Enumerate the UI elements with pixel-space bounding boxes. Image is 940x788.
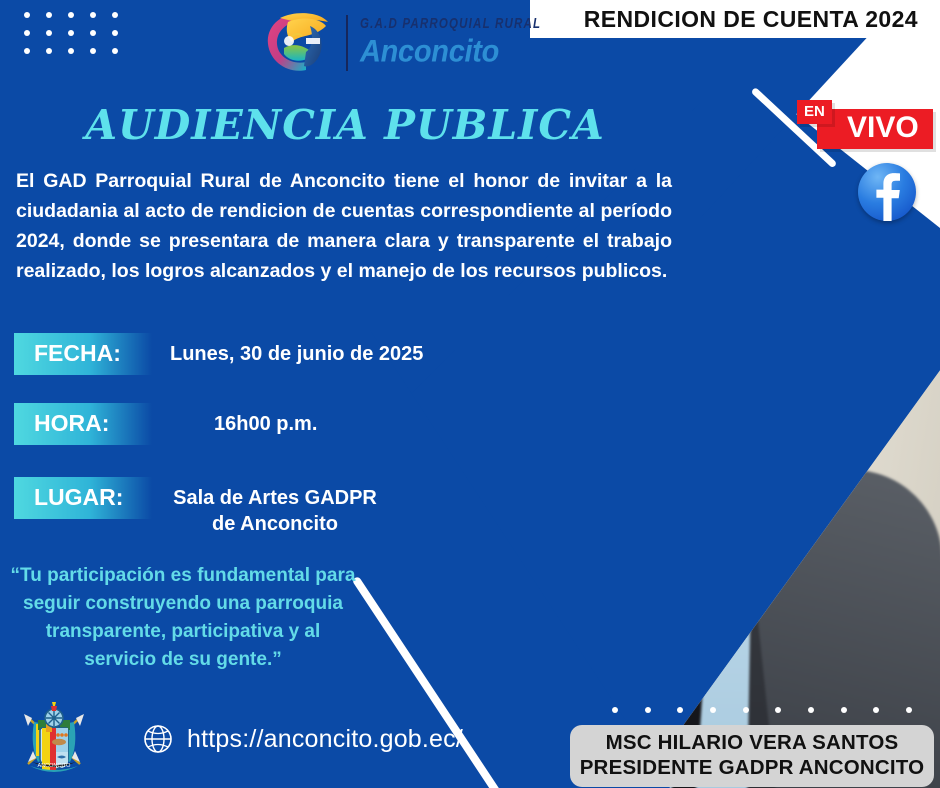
main-title: AUDIENCIA PUBLICA (0, 101, 690, 149)
live-badge-main: VIVO (817, 109, 933, 149)
invitation-paragraph: El GAD Parroquial Rural de Anconcito tie… (16, 166, 672, 286)
live-badge-prefix: EN (797, 100, 832, 124)
info-value-fecha: Lunes, 30 de junio de 2025 (152, 333, 423, 367)
facebook-icon[interactable] (858, 163, 916, 221)
info-value-hora: 16h00 p.m. (152, 403, 317, 437)
speaker-caption: MSC HILARIO VERA SANTOS PRESIDENTE GADPR… (570, 725, 934, 787)
info-label-lugar: LUGAR: (14, 477, 152, 519)
logo-divider (346, 15, 348, 71)
logo-subtitle: G.A.D PARROQUIAL RURAL (360, 18, 541, 32)
info-value-lugar: Sala de Artes GADPR de Anconcito (152, 477, 382, 537)
website-url: https://anconcito.gob.ec/ (187, 725, 463, 754)
info-row-fecha: FECHA: Lunes, 30 de junio de 2025 (14, 333, 423, 375)
info-row-hora: HORA: 16h00 p.m. (14, 403, 317, 445)
speaker-role: PRESIDENTE GADPR ANCONCITO (576, 755, 928, 780)
svg-text:ANCONCITO: ANCONCITO (38, 763, 72, 769)
logo-name: Anconcito (360, 36, 541, 68)
anconcito-coat-of-arms-icon: ANCONCITO (16, 702, 92, 778)
info-row-lugar: LUGAR: Sala de Artes GADPR de Anconcito (14, 477, 382, 537)
decorative-dot-grid (24, 12, 134, 66)
anconcito-shrimp-monogram-icon (262, 8, 334, 78)
info-label-hora: HORA: (14, 403, 152, 445)
page-title: RENDICION DE CUENTA 2024 (584, 6, 918, 33)
brand-logo[interactable]: G.A.D PARROQUIAL RURAL Anconcito (262, 8, 541, 78)
quote-text: “Tu participación es fundamental para se… (8, 562, 358, 674)
blue-corner-wedge (370, 330, 670, 788)
speaker-name: MSC HILARIO VERA SANTOS (576, 730, 928, 755)
poster-canvas: RENDICION DE CUENTA 2024 (0, 0, 940, 788)
globe-icon (143, 724, 173, 754)
info-label-fecha: FECHA: (14, 333, 152, 375)
eyeglasses-icon (595, 326, 790, 398)
website-link[interactable]: https://anconcito.gob.ec/ (143, 724, 463, 754)
decorative-dot-row (612, 707, 912, 713)
